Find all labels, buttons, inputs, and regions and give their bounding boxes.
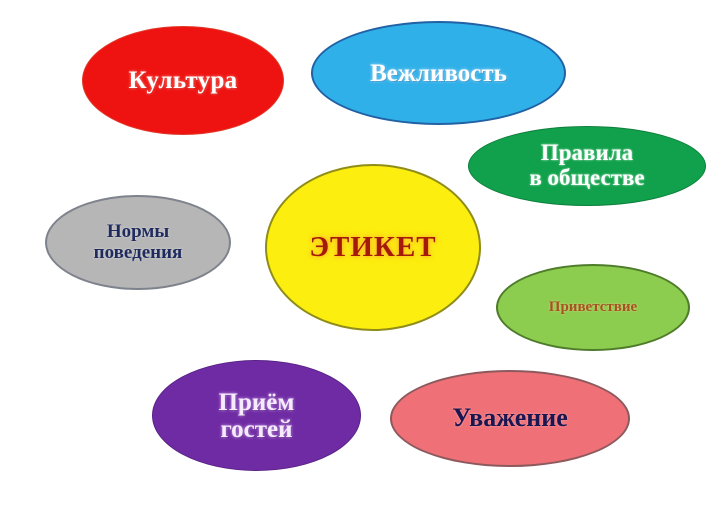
bubble-kultura-label: Культура xyxy=(123,67,244,94)
bubble-pravila-label: Правила в обществе xyxy=(523,141,650,191)
bubble-pravila-v-obshchestve[interactable]: Правила в обществе xyxy=(468,126,706,206)
bubble-normy-label: Нормы поведения xyxy=(88,222,189,263)
bubble-privetstvie[interactable]: Приветствие xyxy=(496,264,690,351)
bubble-priem-gostey[interactable]: Приём гостей xyxy=(152,360,361,471)
bubble-privetstvie-label: Приветствие xyxy=(543,299,643,315)
diagram-canvas: Культура Вежливость Правила в обществе Н… xyxy=(0,0,720,528)
bubble-vezhlivost[interactable]: Вежливость xyxy=(311,21,566,125)
bubble-etiket-label: ЭТИКЕТ xyxy=(303,232,442,263)
bubble-priem-label: Приём гостей xyxy=(213,389,301,443)
bubble-normy-povedeniya[interactable]: Нормы поведения xyxy=(45,195,231,290)
bubble-etiket-center[interactable]: ЭТИКЕТ xyxy=(265,164,481,331)
bubble-uvazhenie-label: Уважение xyxy=(446,404,574,432)
bubble-vezhlivost-label: Вежливость xyxy=(364,60,513,87)
bubble-kultura[interactable]: Культура xyxy=(82,26,284,135)
bubble-uvazhenie[interactable]: Уважение xyxy=(390,370,630,467)
